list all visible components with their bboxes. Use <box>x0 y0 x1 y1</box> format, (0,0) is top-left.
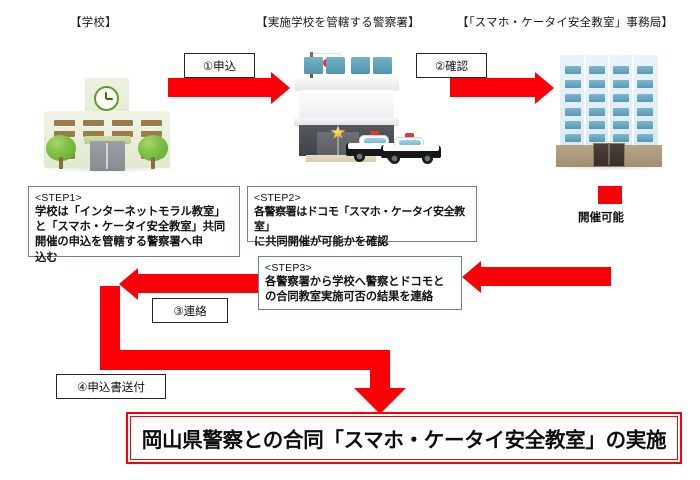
police-window <box>373 57 392 74</box>
police-window <box>304 57 323 74</box>
step1-line-3: 開催の申込を管轄する警察署へ申 <box>35 235 234 250</box>
step3-line-2: の合同教室実施可否の結果を連絡 <box>265 290 456 305</box>
office-building-illustration <box>556 55 662 171</box>
office-window <box>589 66 605 74</box>
arrow-school-to-police-shaft <box>168 78 272 97</box>
office-window <box>565 108 581 116</box>
arrow-office-to-step3-shaft <box>481 267 611 286</box>
office-column <box>632 55 634 147</box>
tree-icon <box>46 135 76 169</box>
office-window <box>613 134 629 142</box>
office-window <box>613 66 629 74</box>
office-window <box>565 94 581 102</box>
label-box-moushikomi[interactable]: ①申込 <box>184 53 255 78</box>
step3-line-1: 各警察署から学校へ警察とドコモと <box>265 275 456 290</box>
office-window <box>565 134 581 142</box>
tree-icon <box>138 135 168 169</box>
school-building-illustration <box>38 78 178 174</box>
office-window <box>613 80 629 88</box>
label-box-moushikomisho-soufu[interactable]: ④申込書送付 <box>56 374 166 399</box>
status-badge: 開催可能 <box>578 209 624 225</box>
office-window <box>637 108 653 116</box>
school-entrance-door <box>90 141 125 171</box>
step2-box[interactable]: <STEP2> 各警察署はドコモ「スマホ・ケータイ安全教室」 に共同開催が可能か… <box>247 186 477 242</box>
office-window <box>589 94 605 102</box>
arrow-submit-head <box>354 388 406 414</box>
school-window <box>112 120 133 126</box>
police-window <box>326 57 345 74</box>
result-banner-text: 岡山県警察との合同「スマホ・ケータイ安全教室」の実施 <box>142 423 666 453</box>
arrow-step3-to-school-head <box>119 268 138 300</box>
office-column <box>584 55 586 147</box>
office-column <box>608 55 610 147</box>
step2-line-1: 各警察署はドコモ「スマホ・ケータイ安全教室」 <box>254 205 471 235</box>
step1-box[interactable]: <STEP1> 学校は「インターネットモラル教室」 と「スマホ・ケータイ安全教室… <box>28 186 240 257</box>
result-banner-inner: 岡山県警察との合同「スマホ・ケータイ安全教室」の実施 <box>130 416 678 460</box>
office-window <box>637 134 653 142</box>
school-window <box>141 120 162 126</box>
office-window <box>637 80 653 88</box>
office-window <box>589 108 605 116</box>
office-window <box>637 94 653 102</box>
step1-line-4: 込む <box>35 251 234 266</box>
police-upper-floor <box>299 90 394 119</box>
office-window <box>637 121 653 129</box>
column-header-office: 【「スマホ・ケータイ安全教室」事務局】 <box>457 14 673 30</box>
step1-title: <STEP1> <box>35 191 234 205</box>
arrow-police-to-office-head <box>535 72 554 104</box>
arrow-submit-horizontal <box>100 350 390 370</box>
step1-line-1: 学校は「インターネットモラル教室」 <box>35 205 234 220</box>
office-window <box>613 108 629 116</box>
arrow-police-to-office-shaft <box>450 78 536 97</box>
office-window <box>613 94 629 102</box>
step2-title: <STEP2> <box>254 191 471 205</box>
office-window <box>565 80 581 88</box>
arrow-school-to-police-head <box>271 72 290 104</box>
office-window <box>589 121 605 129</box>
step1-line-2: と「スマホ・ケータイ安全教室」共同 <box>35 220 234 235</box>
step3-title: <STEP3> <box>265 261 456 275</box>
office-entrance-door <box>593 143 625 167</box>
clock-icon <box>94 86 119 111</box>
step2-line-2: に共同開催が可能かを確認 <box>254 235 471 250</box>
school-window <box>54 120 75 126</box>
arrow-step3-to-school-shaft <box>138 274 258 293</box>
column-header-police: 【実施学校を管轄する警察署】 <box>256 14 420 30</box>
arrow-submit-vertical-right <box>370 350 390 390</box>
office-window <box>589 134 605 142</box>
office-window <box>613 121 629 129</box>
police-car-icon <box>381 136 441 162</box>
column-header-school: 【学校】 <box>70 14 117 30</box>
flowchart-canvas: 【学校】 【実施学校を管轄する警察署】 【「スマホ・ケータイ安全教室」事務局】 <box>0 0 700 480</box>
result-banner[interactable]: 岡山県警察との合同「スマホ・ケータイ安全教室」の実施 <box>126 412 682 464</box>
office-window <box>565 121 581 129</box>
office-window <box>589 80 605 88</box>
office-window <box>637 66 653 74</box>
step3-box[interactable]: <STEP3> 各警察署から学校へ警察とドコモと の合同教室実施可否の結果を連絡 <box>258 256 462 310</box>
label-box-renraku[interactable]: ③連絡 <box>152 298 228 323</box>
arrow-office-to-step3-head <box>462 261 481 293</box>
school-window <box>83 120 104 126</box>
status-marker-square <box>598 186 622 204</box>
office-window <box>565 66 581 74</box>
police-window <box>351 57 370 74</box>
label-box-kakunin[interactable]: ②確認 <box>416 53 487 78</box>
